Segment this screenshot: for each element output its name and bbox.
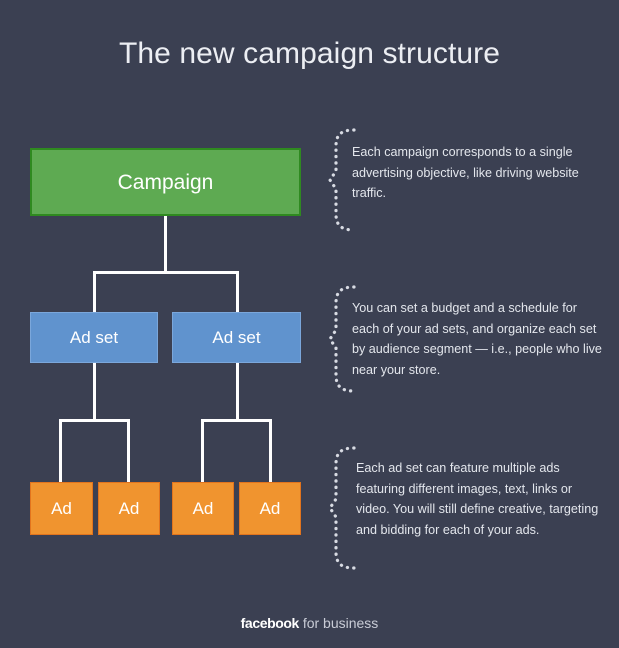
connector-adset-left-stem — [93, 363, 96, 421]
node-ad-set-1-label: Ad set — [70, 329, 118, 346]
callout-campaign: Each campaign corresponds to a single ad… — [328, 126, 598, 234]
node-ad-2-label: Ad — [119, 500, 140, 517]
node-ad-1[interactable]: Ad — [30, 482, 93, 535]
page-title: The new campaign structure — [0, 37, 619, 71]
node-ad-1-label: Ad — [51, 500, 72, 517]
footer-tagline: for business — [303, 615, 378, 631]
connector-campaign-bar — [93, 271, 239, 274]
node-ad-set-1[interactable]: Ad set — [30, 312, 158, 363]
node-campaign[interactable]: Campaign — [30, 148, 301, 216]
connector-adset-right-drop — [236, 271, 239, 313]
facebook-wordmark: facebook — [241, 615, 299, 631]
infographic-canvas: The new campaign structure Campaign Ad s… — [0, 0, 619, 648]
connector-ads-right-bar — [201, 419, 272, 422]
callout-campaign-text: Each campaign corresponds to a single ad… — [352, 142, 594, 204]
connector-adset-left-drop — [93, 271, 96, 313]
node-ad-4-label: Ad — [260, 500, 281, 517]
node-ad-4[interactable]: Ad — [239, 482, 301, 535]
footer-brand: facebook for business — [0, 615, 619, 631]
node-campaign-label: Campaign — [118, 172, 214, 193]
dotted-brace-icon — [328, 444, 358, 572]
connector-ad1-drop — [59, 419, 62, 483]
connector-campaign-stem — [164, 215, 167, 273]
connector-adset-right-stem — [236, 363, 239, 421]
callout-ad: Each ad set can feature multiple ads fea… — [328, 444, 603, 572]
node-ad-3[interactable]: Ad — [172, 482, 234, 535]
node-ad-set-2[interactable]: Ad set — [172, 312, 301, 363]
node-ad-2[interactable]: Ad — [98, 482, 160, 535]
connector-ad3-drop — [201, 419, 204, 483]
callout-ad-text: Each ad set can feature multiple ads fea… — [356, 458, 604, 540]
connector-ads-left-bar — [59, 419, 130, 422]
node-ad-set-2-label: Ad set — [212, 329, 260, 346]
node-ad-3-label: Ad — [193, 500, 214, 517]
connector-ad2-drop — [127, 419, 130, 483]
connector-ad4-drop — [269, 419, 272, 483]
callout-ad-set: You can set a budget and a schedule for … — [328, 283, 603, 395]
callout-ad-set-text: You can set a budget and a schedule for … — [352, 298, 602, 380]
